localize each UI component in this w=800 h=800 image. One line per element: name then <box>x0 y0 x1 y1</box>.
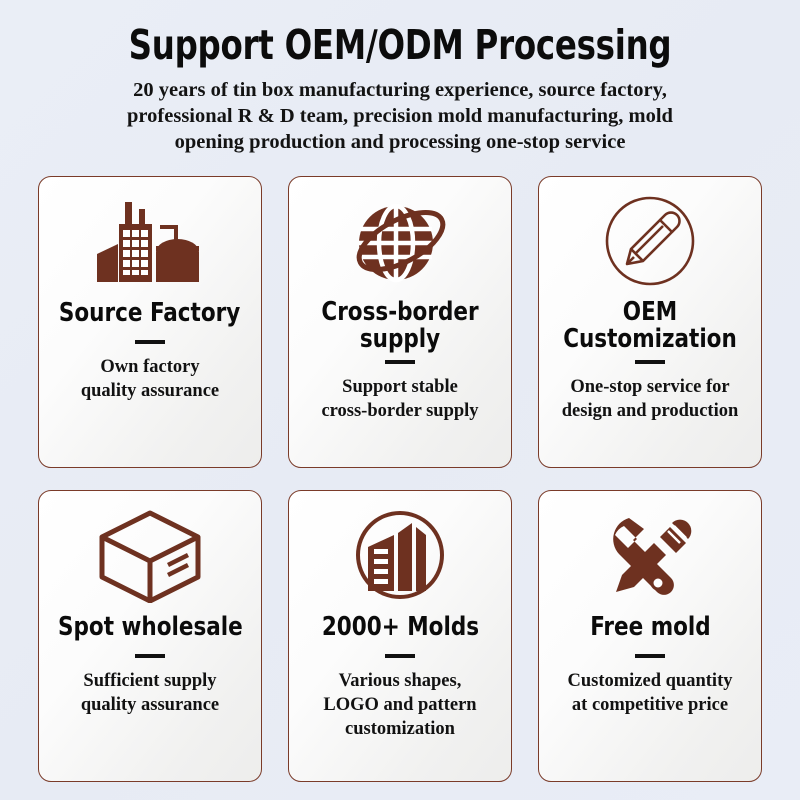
card-title-line-1: Spot wholesale <box>58 612 243 642</box>
feature-card-molds[interactable]: 2000+ Molds Various shapes, LOGO and pat… <box>288 490 512 782</box>
buildings-circle-icon <box>354 499 446 611</box>
title-divider <box>385 654 415 658</box>
card-description: Various shapes, LOGO and pattern customi… <box>316 669 483 741</box>
card-desc-line-2: quality assurance <box>81 693 219 717</box>
feature-card-cross-border-supply[interactable]: Cross-border supply Support stable cross… <box>288 176 512 468</box>
card-title-line-2: supply <box>360 324 440 354</box>
card-description: Own factory quality assurance <box>74 355 226 403</box>
card-desc-line-2: at competitive price <box>568 693 733 717</box>
card-desc-line-1: Various shapes, <box>323 669 476 693</box>
promo-banner: Support OEM/ODM Processing 20 years of t… <box>0 0 800 800</box>
header: Support OEM/ODM Processing 20 years of t… <box>0 0 800 155</box>
feature-card-source-factory[interactable]: Source Factory Own factory quality assur… <box>38 176 262 468</box>
card-title: Source Factory <box>54 299 246 327</box>
card-title: OEM Customization <box>548 299 752 353</box>
card-description: Sufficient supply quality assurance <box>74 669 226 717</box>
card-desc-line-1: Support stable <box>321 375 478 399</box>
title-divider <box>385 360 415 364</box>
card-title: Free mold <box>584 613 716 641</box>
subtitle-line-3: opening production and processing one-st… <box>50 129 750 155</box>
title-divider <box>135 340 165 344</box>
title-divider <box>135 654 165 658</box>
feature-card-oem-customization[interactable]: OEM Customization One-stop service for d… <box>538 176 762 468</box>
card-description: One-stop service for design and producti… <box>555 375 746 423</box>
title-divider <box>635 654 665 658</box>
wrench-screwdriver-icon <box>598 499 702 611</box>
card-desc-line-2: LOGO and pattern <box>323 693 476 717</box>
globe-orbit-icon <box>348 185 452 297</box>
card-description: Customized quantity at competitive price <box>561 669 740 717</box>
feature-card-free-mold[interactable]: Free mold Customized quantity at competi… <box>538 490 762 782</box>
page-title: Support OEM/ODM Processing <box>48 22 752 68</box>
card-desc-line-3: customization <box>323 717 476 741</box>
pencil-circle-icon <box>603 185 697 297</box>
card-desc-line-1: Customized quantity <box>568 669 733 693</box>
card-desc-line-2: quality assurance <box>81 379 219 403</box>
card-desc-line-1: Own factory <box>81 355 219 379</box>
card-title: 2000+ Molds <box>316 613 484 641</box>
card-title: Spot wholesale <box>52 613 248 641</box>
card-desc-line-1: One-stop service for <box>562 375 739 399</box>
card-description: Support stable cross-border supply <box>314 375 485 423</box>
card-title-line-1: Free mold <box>590 612 710 642</box>
subtitle-line-1: 20 years of tin box manufacturing experi… <box>50 77 750 103</box>
card-title-line-1: 2000+ Molds <box>321 612 478 642</box>
title-divider <box>635 360 665 364</box>
card-desc-line-2: design and production <box>562 399 739 423</box>
card-desc-line-2: cross-border supply <box>321 399 478 423</box>
card-title-line-2: Customization <box>563 324 737 354</box>
card-title: Cross-border supply <box>298 299 502 353</box>
feature-card-grid: Source Factory Own factory quality assur… <box>38 176 762 782</box>
card-title-line-1: Cross-border <box>321 297 478 327</box>
subtitle-line-2: professional R & D team, precision mold … <box>50 103 750 129</box>
card-title-line-1: Source Factory <box>59 298 240 328</box>
page-subtitle: 20 years of tin box manufacturing experi… <box>50 77 750 155</box>
factory-icon <box>94 185 206 297</box>
box-icon <box>94 499 206 611</box>
card-title-line-1: OEM <box>623 297 677 327</box>
card-desc-line-1: Sufficient supply <box>81 669 219 693</box>
feature-card-spot-wholesale[interactable]: Spot wholesale Sufficient supply quality… <box>38 490 262 782</box>
